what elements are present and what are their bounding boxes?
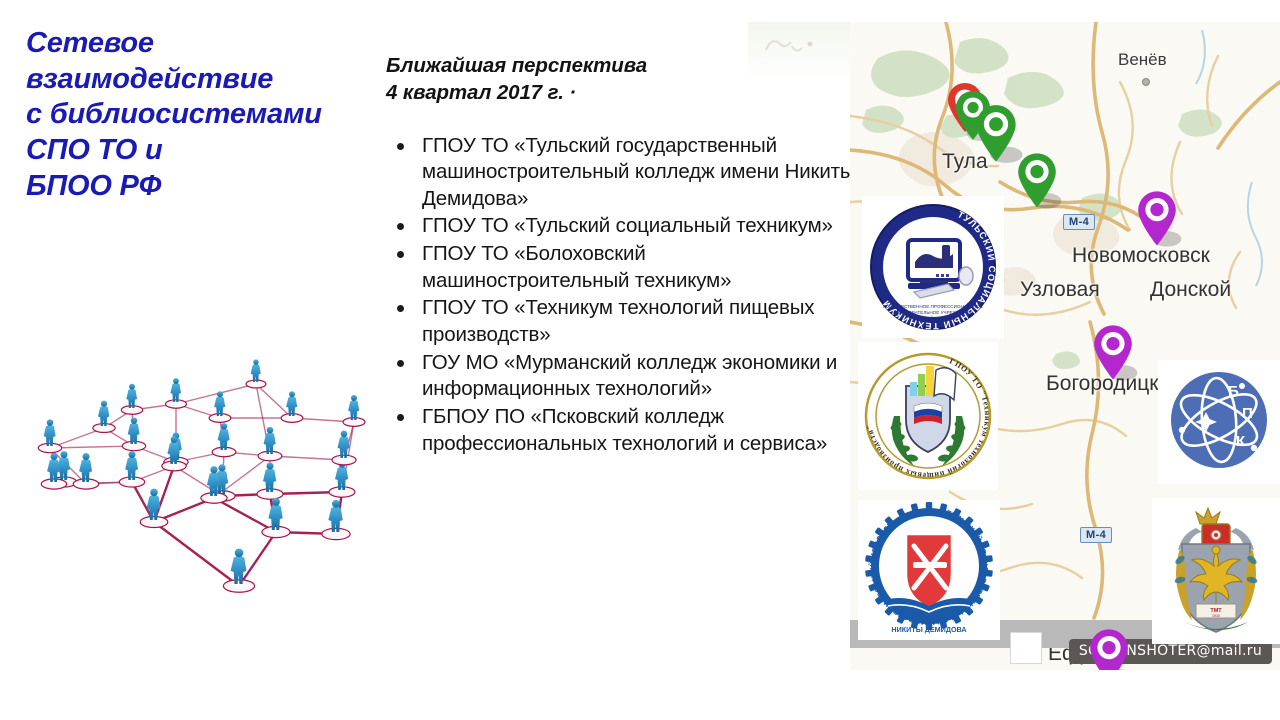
svg-text:Б: Б: [1228, 383, 1239, 400]
logo-bpk-atom: БПК: [1158, 360, 1280, 484]
svg-text:ГОСУДАРСТВЕННОЕ ПРОФЕССИОНАЛЬН: ГОСУДАРСТВЕННОЕ ПРОФЕССИОНАЛЬНОЕ: [883, 304, 983, 309]
svg-text:К: К: [1236, 433, 1246, 450]
map-pin-purple-novomoskovsk[interactable]: [1136, 190, 1178, 248]
svg-text:ОБРАЗОВАТЕЛЬНОЕ УЧРЕЖДЕНИЕ: ОБРАЗОВАТЕЛЬНОЕ УЧРЕЖДЕНИЕ: [893, 310, 973, 315]
network-diagram-image: [24, 358, 384, 613]
svg-text:1930: 1930: [1212, 614, 1220, 618]
page-title: Сетевое взаимодействие с библиосистемами…: [26, 26, 386, 204]
map-pin-green-tula-2[interactable]: [974, 104, 1018, 164]
slide-canvas: Сетевое взаимодействие с библиосистемами…: [0, 0, 1280, 720]
map-panel: Венёв Тула Новомосковск Узловая Донской …: [748, 22, 1280, 690]
logo-tekhnikum-tekhnologiy-pishchevyh-proizvodstv: ГПОУ ТО "Техникум технологий пищевых про…: [858, 342, 998, 490]
map-pin-purple-efremov[interactable]: [1088, 628, 1130, 670]
map-pin-purple-bogoroditsk[interactable]: [1092, 324, 1134, 382]
svg-text:П: П: [1242, 405, 1253, 422]
city-label-uzlovaya: Узловая: [1020, 278, 1100, 302]
svg-text:НИКИТЫ ДЕМИДОВА: НИКИТЫ ДЕМИДОВА: [891, 625, 966, 634]
map-faded-corner: [748, 22, 850, 82]
city-dot-venev: [1142, 78, 1150, 86]
highway-badge-m4-north: M-4: [1063, 214, 1095, 230]
highway-badge-m4-south: M-4: [1080, 527, 1112, 543]
city-label-venev: Венёв: [1118, 50, 1167, 70]
map-white-square: [1010, 632, 1042, 664]
city-label-donskoy: Донской: [1150, 278, 1231, 302]
svg-text:ТУЛЬСКОЙ ОБЛАСТИ: ТУЛЬСКОЙ ОБЛАСТИ: [909, 314, 956, 321]
logo-tulsky-sotsialny-tekhnikum: ТУЛЬСКИЙ СОЦИАЛЬНЫЙ ТЕХНИКУМ ГОСУДАРСТВЕ…: [862, 196, 1004, 338]
map-pin-green-tula-3[interactable]: [1016, 152, 1058, 210]
logo-coat-of-arms-eagle: ТМТ 1930: [1152, 498, 1280, 644]
logo-tulsky-mashinostroitelny-kolledzh: ТУЛЬСКИЙ ГОСУДАРСТВЕННЫЙ МАШИНОСТРОИТЕЛЬ…: [858, 500, 1000, 640]
